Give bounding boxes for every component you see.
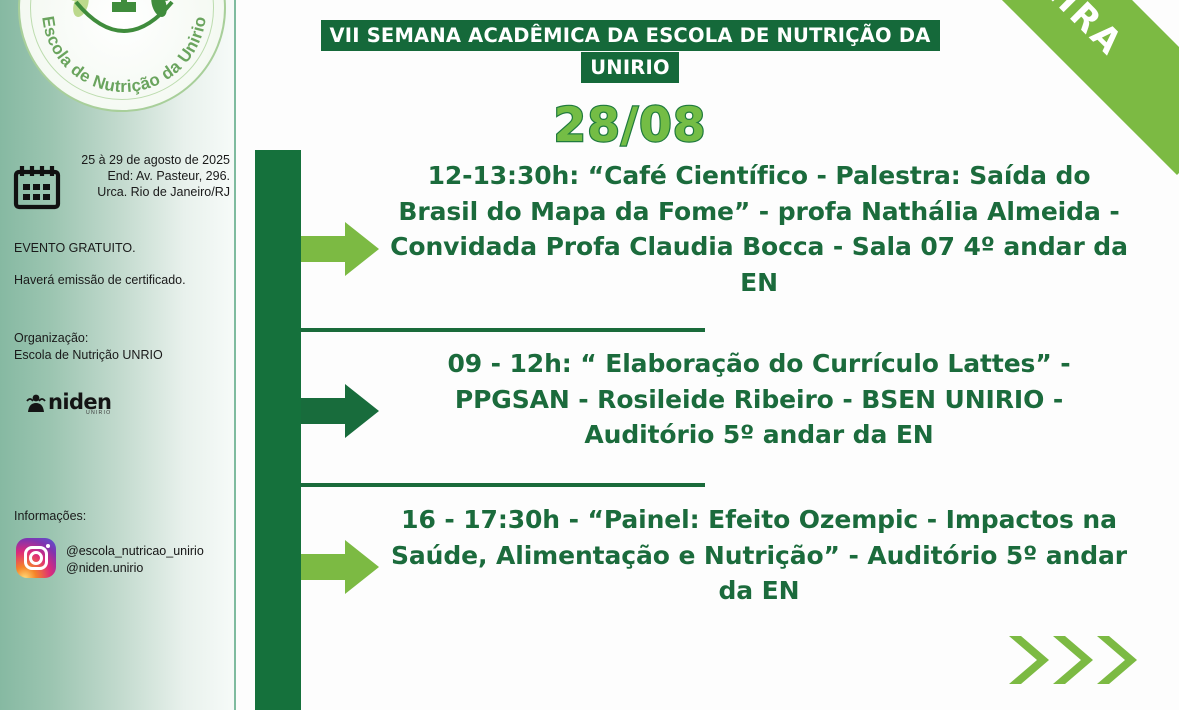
seal-graphics: Escola de Nutrição da Unirio xyxy=(20,0,228,114)
event-divider xyxy=(301,483,705,487)
event-divider xyxy=(301,328,705,332)
niden-logo: niden UNIRIO xyxy=(26,390,136,420)
vertical-accent-bar xyxy=(255,150,301,710)
event-description: 12-13:30h: “Café Científico - Palestra: … xyxy=(387,158,1131,300)
niden-subtitle: UNIRIO xyxy=(86,410,111,416)
info-label: Informações: xyxy=(14,508,224,525)
sidebar-divider xyxy=(234,0,236,710)
arrow-right-icon xyxy=(301,382,379,440)
title-line-2: UNIRIO xyxy=(581,52,678,83)
event-description: 09 - 12h: “ Elaboração do Currículo Latt… xyxy=(387,346,1131,453)
instagram-dot xyxy=(46,544,50,548)
sidebar: Escola de Nutrição da Unirio xyxy=(0,0,236,710)
arrow-right-icon xyxy=(301,220,379,278)
event-description: 16 - 17:30h - “Painel: Efeito Ozempic - … xyxy=(387,502,1131,609)
escola-nutricao-seal-logo: Escola de Nutrição da Unirio xyxy=(18,0,226,112)
instagram-icon[interactable] xyxy=(16,538,56,578)
chevrons-right-icon xyxy=(1009,632,1141,688)
page-title: VII SEMANA ACADÊMICA DA ESCOLA DE NUTRIÇ… xyxy=(300,20,960,83)
arrow-right-icon xyxy=(301,538,379,596)
event-date-address: 25 à 29 de agosto de 2025 End: Av. Paste… xyxy=(68,152,230,200)
niden-mark-icon xyxy=(26,393,46,413)
event-poster: Escola de Nutrição da Unirio xyxy=(0,0,1179,710)
free-event-note: EVENTO GRATUITO. xyxy=(14,240,224,257)
seal-arc-label: Escola de Nutrição da Unirio xyxy=(38,15,210,96)
calendar-icon xyxy=(12,163,62,211)
instagram-lens xyxy=(29,551,43,565)
instagram-handles[interactable]: @escola_nutricao_unirio @niden.unirio xyxy=(66,543,204,577)
events-list: 12-13:30h: “Café Científico - Palestra: … xyxy=(301,150,1131,710)
date-headline: 28/08 xyxy=(300,98,960,153)
certificate-note: Haverá emissão de certificado. xyxy=(14,272,224,289)
title-line-1: VII SEMANA ACADÊMICA DA ESCOLA DE NUTRIÇ… xyxy=(321,20,940,51)
organization-note: Organização: Escola de Nutrição UNRIO xyxy=(14,330,224,364)
